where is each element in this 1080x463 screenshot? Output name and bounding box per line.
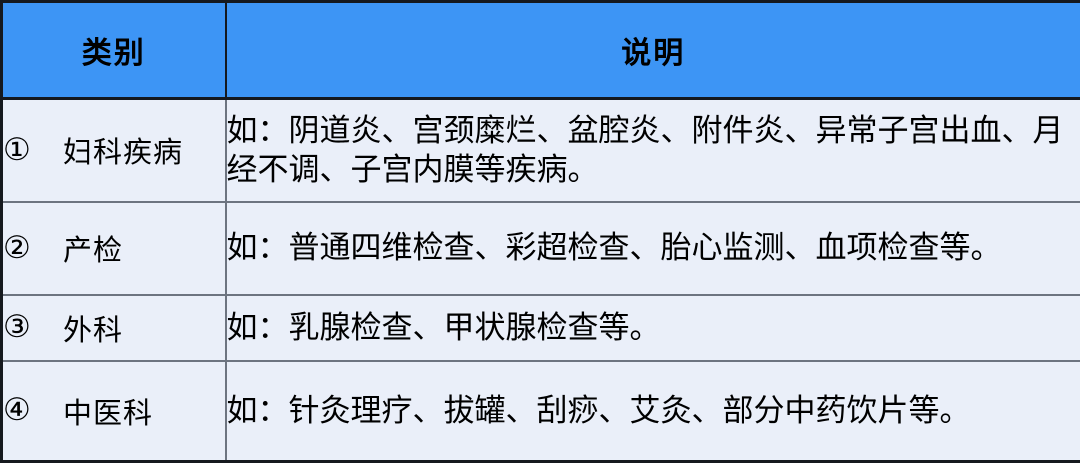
category-cell: ④ 中医科: [2, 361, 226, 462]
category-cell-content: ① 妇科疾病: [3, 129, 225, 171]
description-cell: 如：针灸理疗、拔罐、刮痧、艾灸、部分中药饮片等。: [226, 361, 1080, 462]
table-row: ② 产检 如：普通四维检查、彩超检查、胎心监测、血项检查等。: [2, 202, 1080, 295]
table-row: ③ 外科 如：乳腺检查、甲状腺检查等。: [2, 295, 1080, 361]
circled-number-icon: ④: [3, 395, 63, 426]
category-cell: ② 产检: [2, 202, 226, 295]
category-cell: ③ 外科: [2, 295, 226, 361]
category-cell-content: ② 产检: [3, 227, 225, 269]
header-cell-category: 类别: [2, 2, 226, 99]
description-cell: 如：普通四维检查、彩超检查、胎心监测、血项检查等。: [226, 202, 1080, 295]
category-label: 妇科疾病: [63, 129, 183, 171]
category-cell-content: ③ 外科: [3, 307, 225, 349]
circled-number-icon: ③: [3, 312, 63, 343]
description-cell: 如：阴道炎、宫颈糜烂、盆腔炎、附件炎、异常子宫出血、月经不调、子宫内膜等疾病。: [226, 99, 1080, 202]
category-label: 外科: [63, 307, 123, 349]
category-label: 产检: [63, 227, 123, 269]
category-cell: ① 妇科疾病: [2, 99, 226, 202]
table-row: ① 妇科疾病 如：阴道炎、宫颈糜烂、盆腔炎、附件炎、异常子宫出血、月经不调、子宫…: [2, 99, 1080, 202]
description-cell: 如：乳腺检查、甲状腺检查等。: [226, 295, 1080, 361]
circled-number-icon: ①: [3, 135, 63, 166]
category-description-table: 类别 说明 ① 妇科疾病 如：阴道炎、宫颈糜烂、盆腔炎、附件炎、异常子宫出血、月…: [0, 0, 1080, 463]
category-label: 中医科: [63, 390, 153, 432]
circled-number-icon: ②: [3, 233, 63, 264]
table-header-row: 类别 说明: [2, 2, 1080, 99]
table-row: ④ 中医科 如：针灸理疗、拔罐、刮痧、艾灸、部分中药饮片等。: [2, 361, 1080, 462]
category-cell-content: ④ 中医科: [3, 390, 225, 432]
info-table-container: 类别 说明 ① 妇科疾病 如：阴道炎、宫颈糜烂、盆腔炎、附件炎、异常子宫出血、月…: [0, 0, 1080, 460]
header-cell-description: 说明: [226, 2, 1080, 99]
